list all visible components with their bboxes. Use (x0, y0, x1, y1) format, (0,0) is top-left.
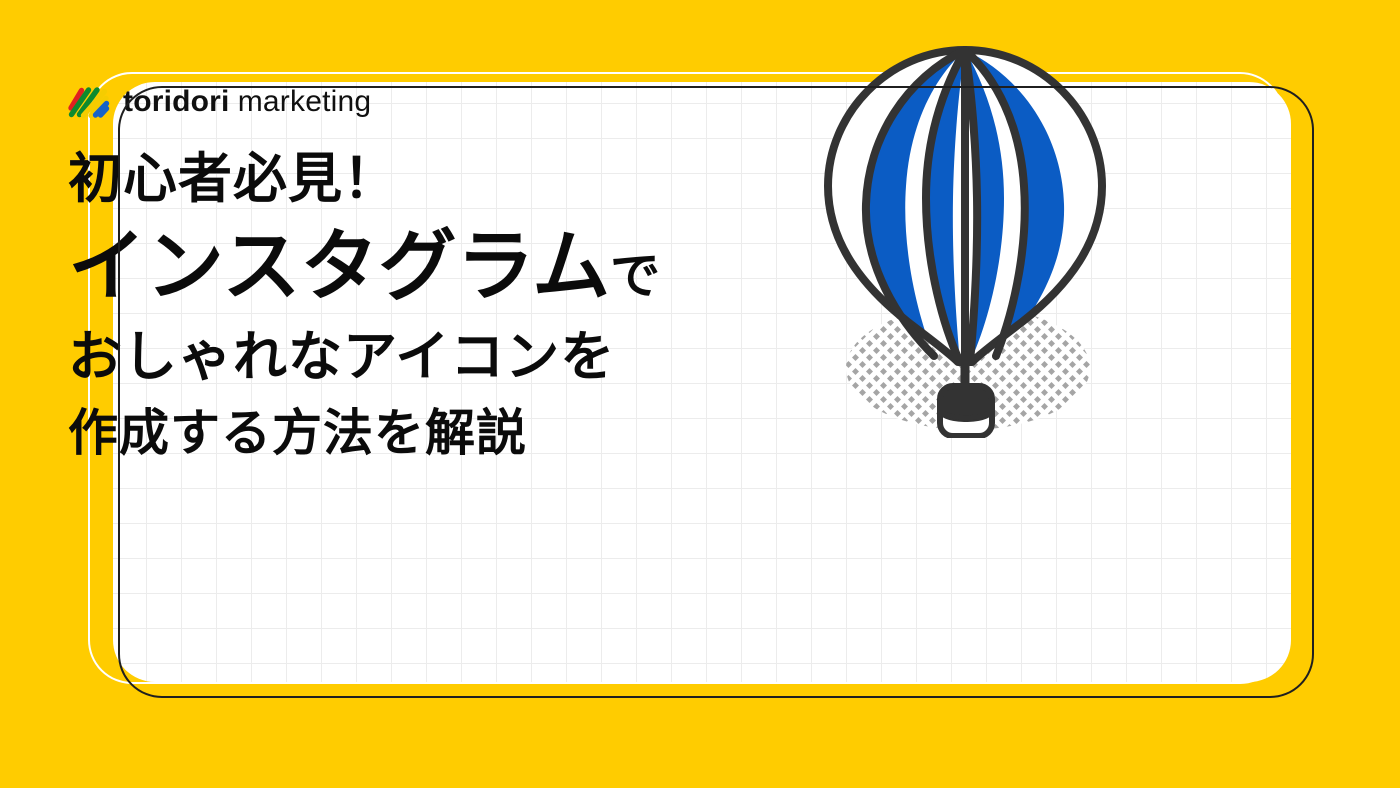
card-content: toridori marketing 初心者必見！ インスタグラムで おしゃれな… (0, 0, 1178, 600)
headline-block: 初心者必見！ インスタグラムで おしゃれなアイコンを 作成する方法を解説 (68, 152, 828, 458)
headline-line-2-suffix: で (610, 247, 660, 305)
hot-air-balloon-icon (810, 18, 1120, 438)
headline-line-3: おしゃれなアイコンを (68, 330, 828, 384)
wordmark-light: marketing (238, 85, 372, 118)
hot-air-balloon-illustration (810, 18, 1120, 438)
headline-line-2-main: インスタグラム (68, 222, 610, 312)
wordmark-bold: toridori (123, 85, 230, 118)
headline-line-2: インスタグラムで (68, 228, 828, 306)
toridori-logo-mark-icon (66, 84, 110, 120)
headline-line-1: 初心者必見！ (68, 152, 828, 206)
headline-line-4: 作成する方法を解説 (68, 408, 828, 458)
brand-logo: toridori marketing (66, 82, 371, 122)
balloon-basket (940, 386, 992, 436)
thumbnail-canvas: toridori marketing 初心者必見！ インスタグラムで おしゃれな… (0, 0, 1400, 788)
brand-wordmark: toridori marketing (123, 87, 371, 117)
